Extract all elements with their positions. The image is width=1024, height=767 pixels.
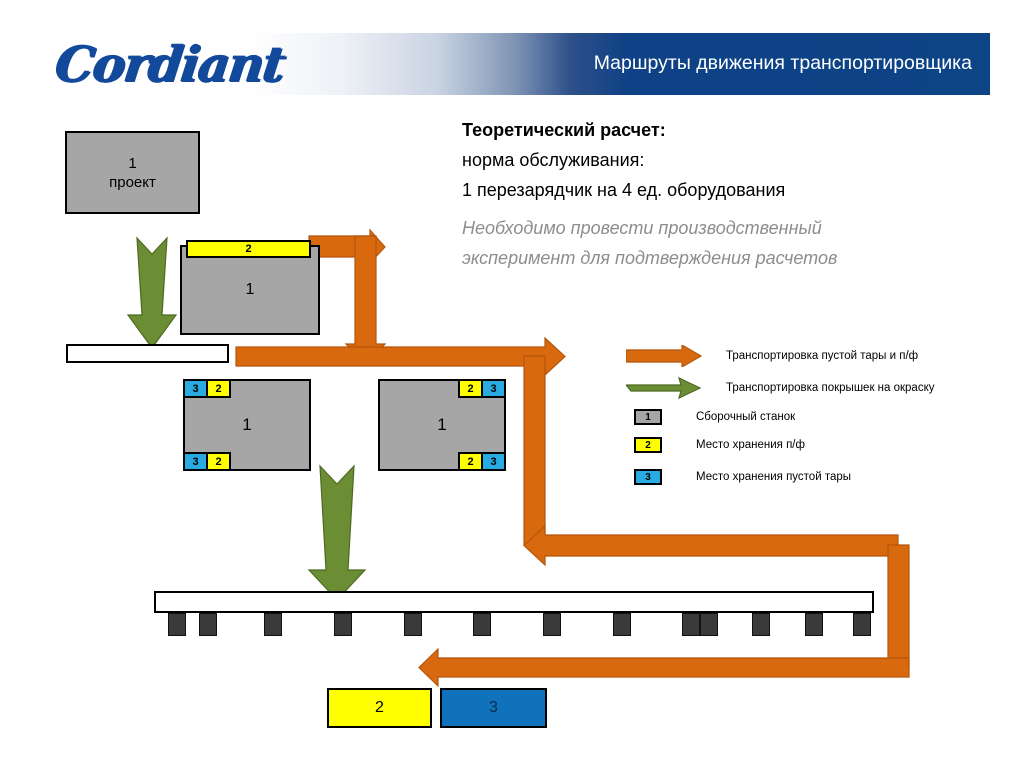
machine-b-tab-bottomleft-stock: 2	[206, 452, 231, 471]
project-box-line1: 1	[128, 154, 136, 173]
note-heading: Теоретический расчет:	[462, 120, 666, 141]
conveyor-bar	[154, 591, 874, 613]
conveyor-tooth	[752, 613, 770, 636]
orange-arrow-right-long	[236, 338, 565, 375]
white-strip-box	[66, 344, 229, 363]
machine-b-tab-bottomleft-empty: 3	[183, 452, 208, 471]
legend-row-machine: 1 Сборочный станок	[626, 409, 795, 425]
note-line-2: норма обслуживания:	[462, 150, 644, 171]
conveyor-tooth	[264, 613, 282, 636]
green-arrow-2	[309, 466, 365, 600]
machine-a-storage-strip: 2	[186, 240, 311, 258]
machine-b-tab-bl-yellow-label: 2	[215, 456, 221, 468]
machine-box-a: 1	[180, 245, 320, 335]
machine-c-tab-bottomright-empty: 3	[481, 452, 506, 471]
machine-b-label: 1	[242, 415, 251, 435]
gray-box-icon: 1	[634, 409, 662, 425]
orange-arrow-left-bottom	[419, 649, 909, 686]
legend-row-green: Транспортировка покрышек на окраску	[626, 377, 935, 399]
conveyor-tooth	[682, 613, 700, 636]
machine-c-tab-topright-empty: 3	[481, 379, 506, 398]
conveyor-tooth	[199, 613, 217, 636]
conveyor-tooth	[334, 613, 352, 636]
machine-c-label: 1	[437, 415, 446, 435]
machine-c-tab-bottomright-stock: 2	[458, 452, 483, 471]
legend-row-semifinished: 2 Место хранения п/ф	[626, 437, 805, 453]
legend-label-empty: Место хранения пустой тары	[696, 471, 851, 483]
machine-c-tab-br-blue-label: 3	[490, 456, 496, 468]
machine-b-tab-tl-blue-label: 3	[192, 383, 198, 395]
bottom-storage-box-empty: 3	[440, 688, 547, 728]
note-line-3: 1 перезарядчик на 4 ед. оборудования	[462, 180, 785, 201]
green-arrow-1	[128, 238, 176, 348]
legend-label-orange: Транспортировка пустой тары и п/ф	[726, 350, 918, 362]
machine-a-strip-label: 2	[245, 243, 251, 255]
yellow-box-icon: 2	[634, 437, 662, 453]
orange-arrow-down-1	[346, 236, 385, 365]
conveyor-tooth	[543, 613, 561, 636]
machine-c-tab-tr-blue-label: 3	[490, 383, 496, 395]
bottom-blue-label: 3	[489, 699, 498, 717]
page-title: Маршруты движения транспортировщика	[470, 50, 982, 76]
bottom-yellow-label: 2	[375, 699, 384, 717]
note-italic-2: эксперимент для подтверждения расчетов	[462, 248, 837, 269]
machine-c-tab-br-yellow-label: 2	[467, 456, 473, 468]
conveyor-tooth	[853, 613, 871, 636]
green-arrow-icon	[626, 377, 702, 399]
legend-label-green: Транспортировка покрышек на окраску	[726, 382, 935, 394]
orange-arrow-right-2	[524, 526, 898, 565]
note-italic-1: Необходимо провести производственный	[462, 218, 822, 239]
legend-label-machine: Сборочный станок	[696, 411, 795, 423]
cordiant-logo: Cordiant	[52, 36, 369, 92]
machine-b-tab-bl-blue-label: 3	[192, 456, 198, 468]
legend-swatch-blue-label: 3	[645, 472, 651, 483]
conveyor-tooth	[700, 613, 718, 636]
legend-row-orange: Транспортировка пустой тары и п/ф	[626, 345, 918, 367]
orange-arrow-down-3	[888, 545, 909, 668]
conveyor-tooth	[613, 613, 631, 636]
legend-label-semifinished: Место хранения п/ф	[696, 439, 805, 451]
machine-c-tab-topright-stock: 2	[458, 379, 483, 398]
conveyor-tooth	[805, 613, 823, 636]
machine-b-tab-topleft-stock: 2	[206, 379, 231, 398]
orange-arrow-top-right	[309, 230, 385, 263]
project-box-line2: проект	[109, 173, 156, 192]
orange-arrow-icon	[626, 345, 702, 367]
project-box: 1 проект	[65, 131, 200, 214]
legend-swatch-yellow-label: 2	[645, 440, 651, 451]
legend-swatch-gray-label: 1	[645, 412, 651, 423]
machine-b-tab-tl-yellow-label: 2	[215, 383, 221, 395]
conveyor-tooth	[404, 613, 422, 636]
slide-canvas: Cordiant Маршруты движения транспортиров…	[0, 0, 1024, 767]
machine-b-tab-topleft-empty: 3	[183, 379, 208, 398]
legend-row-empty: 3 Место хранения пустой тары	[626, 469, 851, 485]
blue-box-icon: 3	[634, 469, 662, 485]
orange-arrow-down-2	[524, 356, 545, 545]
conveyor-tooth	[473, 613, 491, 636]
machine-a-label: 1	[246, 281, 255, 299]
conveyor-tooth	[168, 613, 186, 636]
machine-c-tab-tr-yellow-label: 2	[467, 383, 473, 395]
bottom-storage-box-semifinished: 2	[327, 688, 432, 728]
